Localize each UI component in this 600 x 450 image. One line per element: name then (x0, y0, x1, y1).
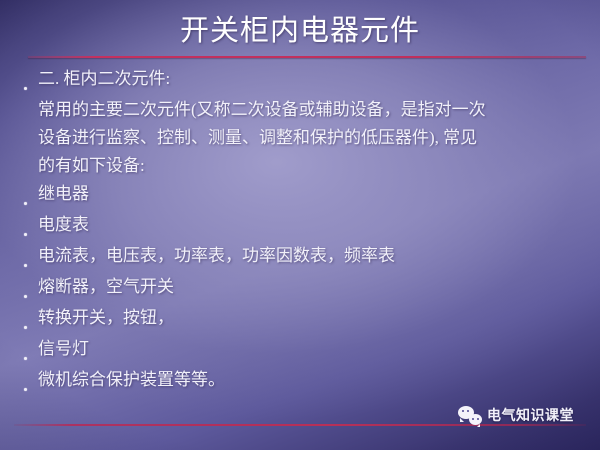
list-item: 电流表，电压表，功率表，功率因数表，频率表 (24, 243, 580, 272)
bullet-dot-icon (24, 336, 38, 365)
list-item: 继电器 (24, 181, 580, 210)
slide-canvas: 开关柜内电器元件 二. 柜内二次元件: 常用的主要二次元件(又称二次设备或辅助设… (0, 0, 600, 450)
list-item-label: 信号灯 (38, 336, 580, 361)
paragraph-line: 常用的主要二次元件(又称二次设备或辅助设备，是指对一次 (24, 97, 580, 123)
title-underline-rule (28, 56, 586, 58)
slide-title-block: 开关柜内电器元件 (0, 8, 600, 60)
list-item: 信号灯 (24, 336, 580, 365)
list-item-label: 电度表 (38, 212, 580, 237)
list-item: 转换开关，按钮， (24, 305, 580, 334)
list-item-label: 继电器 (38, 181, 580, 206)
watermark-label: 电气知识课堂 (487, 405, 574, 425)
bullet-dot-icon (24, 181, 38, 210)
bullet-dot-icon (24, 305, 38, 334)
bullet-dot-icon (24, 274, 38, 303)
list-item: 熔断器，空气开关 (24, 274, 580, 303)
list-item-label: 转换开关，按钮， (38, 305, 580, 330)
bullet-dot-icon (24, 212, 38, 241)
list-item: 微机综合保护装置等等。 (24, 367, 580, 396)
list-item-label: 电流表，电压表，功率表，功率因数表，频率表 (38, 243, 580, 268)
page-title: 开关柜内电器元件 (180, 8, 420, 54)
bullet-dot-icon (24, 243, 38, 272)
slide-body: 二. 柜内二次元件: 常用的主要二次元件(又称二次设备或辅助设备，是指对一次 设… (24, 66, 580, 398)
list-item: 电度表 (24, 212, 580, 241)
bullet-dot-icon (24, 367, 38, 396)
bullet-dot-icon (24, 66, 38, 95)
watermark: 电气知识课堂 (458, 405, 574, 425)
list-item-label: 熔断器，空气开关 (38, 274, 580, 299)
lead-bullet-label: 二. 柜内二次元件: (38, 66, 580, 91)
paragraph-line: 设备进行监察、控制、测量、调整和保护的低压器件), 常见 (24, 125, 580, 151)
list-item: 二. 柜内二次元件: (24, 66, 580, 95)
wechat-icon (458, 406, 482, 425)
list-item-label: 微机综合保护装置等等。 (38, 367, 580, 392)
paragraph-line: 的有如下设备: (24, 153, 580, 179)
